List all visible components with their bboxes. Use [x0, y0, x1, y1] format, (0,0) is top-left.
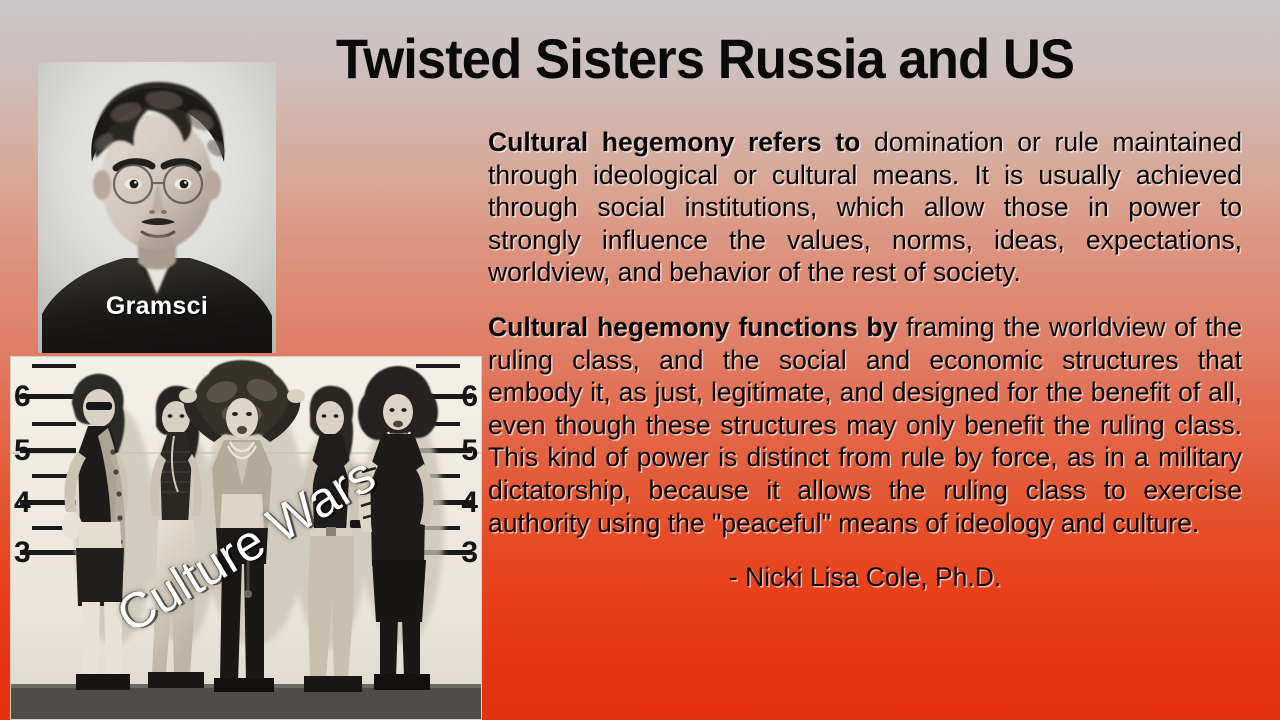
gramsci-portrait-figure: Gramsci: [38, 62, 276, 353]
paragraph-2: Cultural hegemony functions by framing t…: [488, 311, 1242, 539]
svg-text:6: 6: [14, 380, 31, 413]
body-text-column: Cultural hegemony refers to domination o…: [488, 126, 1242, 594]
paragraph-1: Cultural hegemony refers to domination o…: [488, 126, 1242, 289]
svg-text:4: 4: [14, 486, 31, 519]
svg-text:6: 6: [461, 380, 478, 413]
page-title: Twisted Sisters Russia and US: [296, 30, 1114, 89]
attribution: - Nicki Lisa Cole, Ph.D.: [488, 561, 1242, 594]
svg-text:3: 3: [14, 536, 31, 569]
paragraph-2-body: framing the worldview of the ruling clas…: [488, 312, 1242, 538]
mugshot-band-figure: 6 5 4 3 6 5 4 3: [10, 356, 482, 720]
paragraph-1-lead: Cultural hegemony refers to: [488, 127, 860, 157]
svg-text:3: 3: [461, 536, 478, 569]
gramsci-caption: Gramsci: [38, 292, 276, 321]
svg-text:5: 5: [461, 434, 478, 467]
paragraph-2-lead: Cultural hegemony functions by: [488, 312, 897, 342]
svg-text:4: 4: [461, 486, 478, 519]
svg-text:5: 5: [14, 434, 31, 467]
